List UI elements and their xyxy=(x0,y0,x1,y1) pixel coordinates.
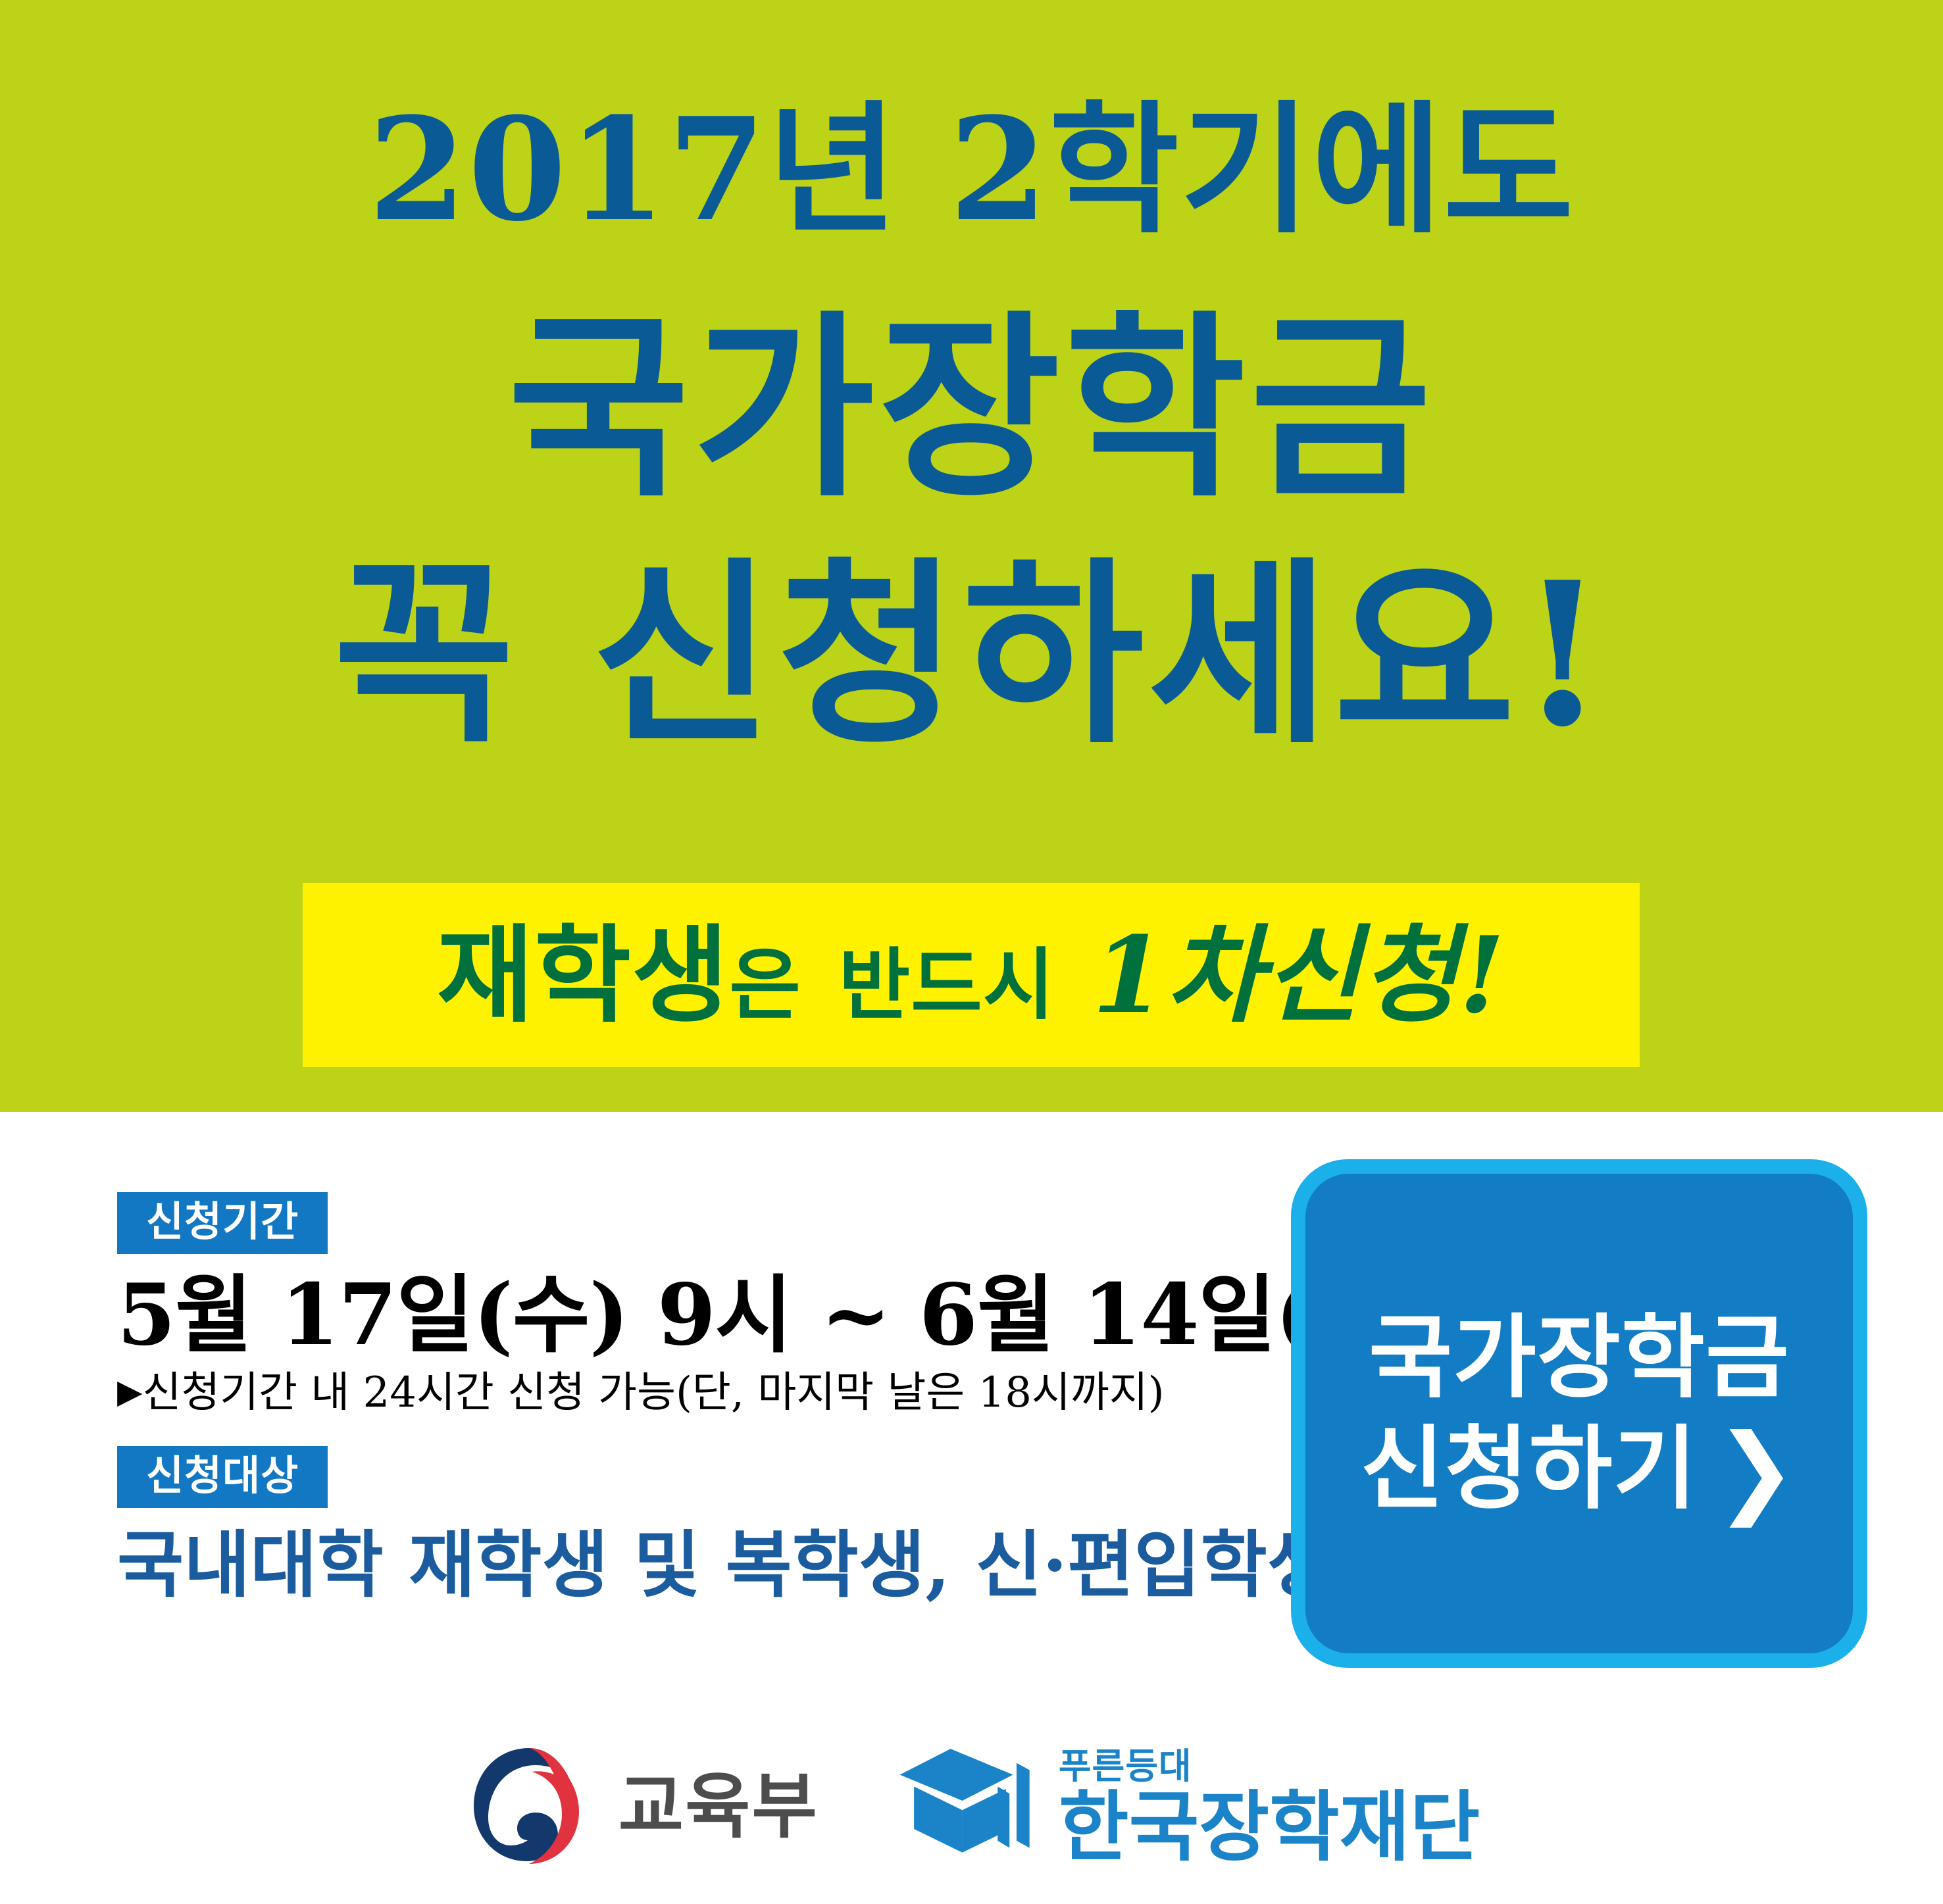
highlight-part-4: 1차신청! xyxy=(1092,913,1505,1037)
hero-title-line2: 꼭 신청하세요! xyxy=(0,556,1943,753)
kosaf-logo: 푸른등대 한국장학재단 xyxy=(897,1743,1480,1872)
apply-scholarship-button[interactable]: 국가장학금 신청하기❯ xyxy=(1291,1159,1867,1668)
highlight-part-2: 은 xyxy=(729,939,801,1030)
scholarship-promo-banner: 2017년 2학기에도 국가장학금 꼭 신청하세요! 재학생은 반드시 1차신청… xyxy=(0,0,1943,1904)
tag-application-target: 신청대상 xyxy=(117,1446,328,1508)
apply-button-line2: 신청하기 xyxy=(1361,1416,1698,1522)
apply-button-line1: 국가장학금 xyxy=(1369,1303,1790,1413)
hero-eyebrow: 2017년 2학기에도 xyxy=(0,99,1943,240)
info-details: 신청기간 5월 17일(수) 9시 ~ 6월 14일(수) 18시 ▶신청기간 … xyxy=(117,1192,1275,1605)
apply-button-line2-row: 신청하기❯ xyxy=(1361,1414,1798,1524)
application-period-value: 5월 17일(수) 9시 ~ 6월 14일(수) 18시 xyxy=(117,1268,1275,1363)
highlight-text-group: 재학생은 반드시 1차신청! xyxy=(437,922,1505,1028)
apply-button-inner[interactable]: 국가장학금 신청하기❯ xyxy=(1305,1174,1853,1653)
application-period-note-text: 신청기간 내 24시간 신청 가능(단, 마지막 날은 18시까지) xyxy=(142,1368,1164,1417)
hero-section: 2017년 2학기에도 국가장학금 꼭 신청하세요! 재학생은 반드시 1차신청… xyxy=(0,0,1943,1112)
kosaf-wordmark: 푸른등대 한국장학재단 xyxy=(1059,1749,1480,1866)
highlight-part-1: 재학생 xyxy=(437,913,730,1037)
kosaf-name: 한국장학재단 xyxy=(1059,1790,1480,1866)
ministry-of-education-name: 교육부 xyxy=(618,1772,819,1843)
hero-title-line1: 국가장학금 xyxy=(0,309,1943,507)
bullet-arrow-icon: ▶ xyxy=(117,1372,142,1411)
ministry-of-education-logo: 교육부 xyxy=(463,1740,819,1875)
chevron-right-icon: ❯ xyxy=(1715,1421,1798,1520)
application-target-value: 국내대학 재학생 및 복학생, 신·편입학생 xyxy=(117,1525,1275,1605)
tag-application-period: 신청기간 xyxy=(117,1192,328,1254)
footer-logos: 교육부 푸른등대 한국장학재단 xyxy=(0,1711,1943,1904)
period-block: 신청기간 5월 17일(수) 9시 ~ 6월 14일(수) 18시 ▶신청기간 … xyxy=(117,1192,1275,1418)
target-block: 신청대상 국내대학 재학생 및 복학생, 신·편입학생 xyxy=(117,1446,1275,1605)
highlight-part-3: 반드시 xyxy=(839,939,1055,1030)
application-period-note: ▶신청기간 내 24시간 신청 가능(단, 마지막 날은 18시까지) xyxy=(117,1368,1275,1418)
highlight-banner: 재학생은 반드시 1차신청! xyxy=(303,883,1640,1067)
graduation-cap-icon xyxy=(897,1743,1039,1872)
kosaf-tagline: 푸른등대 xyxy=(1059,1749,1480,1784)
taegeuk-emblem-icon xyxy=(463,1740,595,1875)
